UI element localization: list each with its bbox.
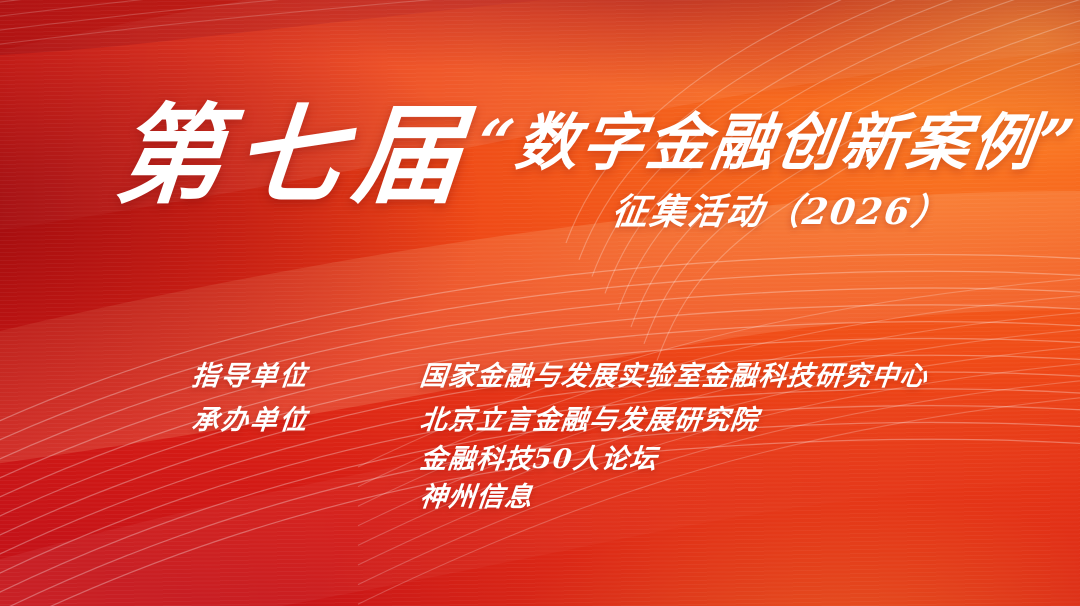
credit-value: 国家金融与发展实验室金融科技研究中心 (418, 358, 1024, 396)
credit-label-guidance: 指导单位 (190, 358, 422, 396)
title-subtitle: 征集活动（2026） (609, 194, 952, 230)
poster-banner: 第七届 “数字金融创新案例” 征集活动（2026） 指导单位 国家金融与发展实验… (0, 0, 1080, 606)
credit-value: 金融科技50人论坛 (418, 441, 1024, 479)
credit-row: 承办单位 北京立言金融与发展研究院 金融科技50人论坛 神州信息 (192, 402, 1022, 517)
title-theme: “数字金融创新案例” (474, 112, 1080, 174)
credits-block: 指导单位 国家金融与发展实验室金融科技研究中心 承办单位 北京立言金融与发展研究… (192, 358, 1022, 523)
title-ordinal: 第七届 (111, 102, 477, 210)
credit-values: 北京立言金融与发展研究院 金融科技50人论坛 神州信息 (420, 402, 1022, 517)
credit-label-organizer: 承办单位 (190, 402, 422, 440)
credit-values: 国家金融与发展实验室金融科技研究中心 (420, 358, 1022, 396)
credit-value: 神州信息 (418, 479, 1024, 517)
title-block: 第七届 “数字金融创新案例” 征集活动（2026） (112, 98, 1052, 248)
credit-value: 北京立言金融与发展研究院 (418, 402, 1024, 440)
poster-content: 第七届 “数字金融创新案例” 征集活动（2026） 指导单位 国家金融与发展实验… (0, 0, 1080, 606)
credit-row: 指导单位 国家金融与发展实验室金融科技研究中心 (192, 358, 1022, 396)
